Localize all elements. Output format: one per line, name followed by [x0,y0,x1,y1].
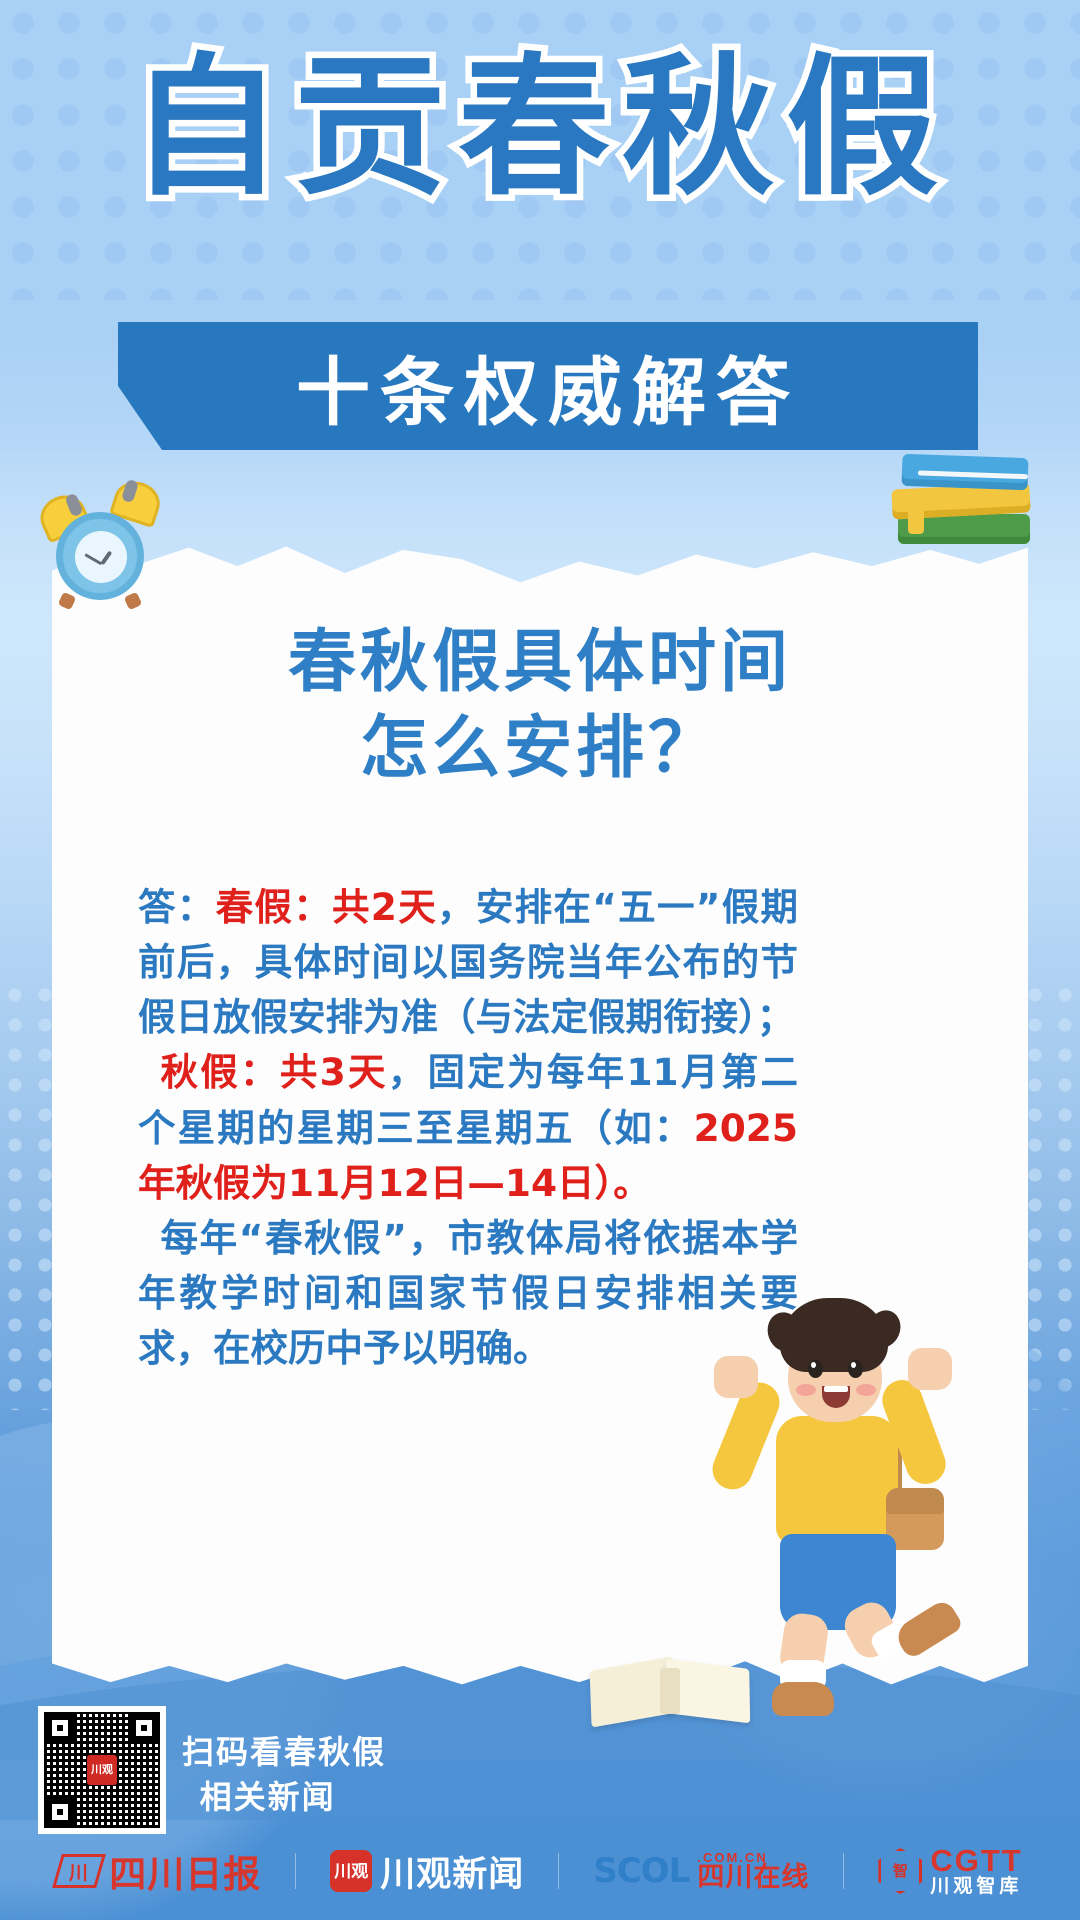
footer-divider-2 [558,1853,559,1889]
footer-divider-3 [843,1853,844,1889]
qr-caption-line-2: 相关新闻 [182,1775,482,1820]
qr-finder-top-left [46,1714,74,1742]
cgtt-cube-icon: 智 [878,1848,922,1894]
logo-sichuan-daily[interactable]: 川 四川日报 [57,1844,261,1898]
stacked-books-icon [890,452,1040,562]
ribbon-banner: 十条权威解答 [0,322,1080,450]
ribbon-label: 十条权威解答 [118,322,978,450]
logo-cgtt[interactable]: 智 CGTT 川观智库 [878,1845,1022,1897]
qr-code[interactable]: 川观 [38,1706,166,1834]
cgtt-chinese-name: 川观智库 [930,1877,1022,1897]
logo-scol[interactable]: SCOL .COM.CN 四川在线 [593,1851,809,1891]
alarm-clock-icon [38,478,162,602]
sichuan-daily-name: 四川日报 [109,1844,261,1898]
question-line-1: 春秋假具体时间 [288,623,792,702]
answer-paragraph-2: 秋假：共3天，固定为每年11月第二个星期的星期三至星期五（如：2025年秋假为1… [138,1045,798,1210]
sichuan-daily-mark-icon: 川 [52,1854,106,1888]
cheering-student-illustration [672,1252,1002,1722]
chuanguan-news-name: 川观新闻 [380,1846,524,1897]
autumn-break-highlight: 秋假：共3天 [161,1050,388,1094]
scol-wordmark: SCOL [593,1851,689,1891]
answer-prefix: 答： [138,885,216,929]
sichuan-daily-mark-text: 川 [70,1858,89,1885]
answer-paragraph-1: 答：春假：共2天，安排在“五一”假期前后，具体时间以国务院当年公布的节假日放假安… [138,880,798,1045]
qr-caption-line-1: 扫码看春秋假 [182,1733,386,1771]
cgtt-subtext: CGTT 川观智库 [930,1845,1022,1897]
qr-code-pattern: 川观 [44,1712,160,1828]
qr-center-logo: 川观 [87,1755,117,1785]
scol-chinese-name: 四川在线 [697,1864,809,1891]
question-line-2: 怎么安排？ [52,706,1028,792]
page-title: 自贡春秋假 [0,52,1080,204]
chuanguan-badge-icon: 川观 [330,1850,372,1892]
question-heading: 春秋假具体时间 怎么安排？ [52,620,1028,791]
spring-break-highlight: 春假：共2天 [216,885,437,929]
poster-root: 自贡春秋假 十条权威解答 春秋假具体时间 怎么安排？ 答：春假：共2天，安排在“… [0,0,1080,1920]
qr-finder-bottom-left [46,1798,74,1826]
cgtt-english-name: CGTT [930,1845,1022,1878]
footer-logo-bar: 川 四川日报 川观 川观新闻 SCOL .COM.CN 四川在线 智 CGTT … [0,1844,1080,1898]
qr-caption: 扫码看春秋假 相关新闻 [182,1730,482,1821]
qr-finder-top-right [130,1714,158,1742]
footer-divider-1 [295,1853,296,1889]
scol-subtext: .COM.CN 四川在线 [697,1851,809,1891]
logo-chuanguan-news[interactable]: 川观 川观新闻 [330,1846,524,1897]
